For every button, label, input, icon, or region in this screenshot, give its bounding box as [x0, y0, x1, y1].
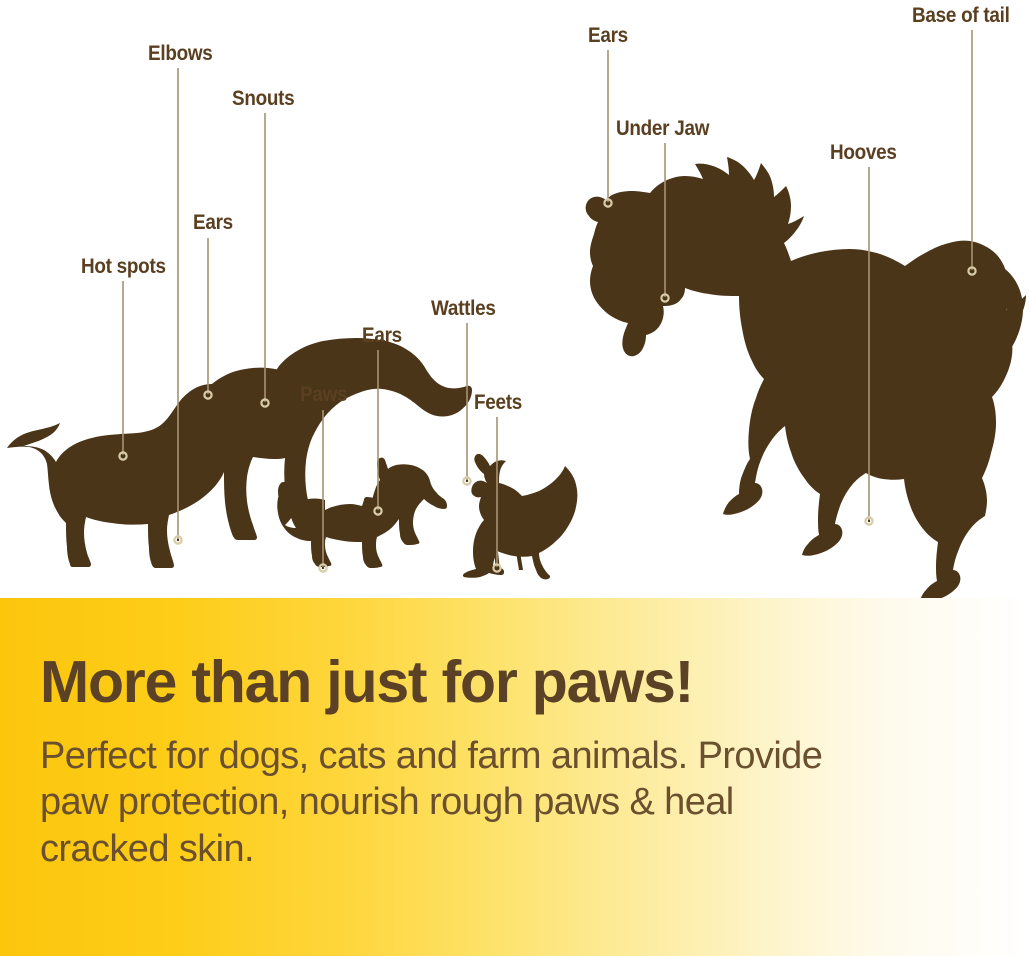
callout-label-hooves: Hooves [830, 142, 897, 163]
horse-silhouette [586, 157, 1026, 598]
callout-label-dog-ears: Ears [193, 212, 233, 233]
banner-headline: More than just for paws! [40, 653, 693, 712]
promo-banner-inner: More than just for paws! Perfect for dog… [40, 598, 1029, 956]
leader-marker-core-dog-ears [207, 394, 209, 396]
leader-marker-core-paws [322, 567, 324, 569]
leader-marker-core-feets [496, 567, 498, 569]
callout-label-base-of-tail: Base of tail [912, 5, 1010, 26]
banner-description-line: cracked skin. [40, 826, 980, 872]
leader-marker-core-cat-ears [377, 510, 379, 512]
callout-label-horse-ears: Ears [588, 25, 628, 46]
banner-description-line: Perfect for dogs, cats and farm animals.… [40, 733, 980, 779]
callout-label-snouts: Snouts [232, 88, 294, 109]
callout-label-feets: Feets [474, 392, 522, 413]
leader-marker-core-horse-ears [607, 202, 609, 204]
leader-marker-core-wattles [466, 480, 468, 482]
promo-banner: More than just for paws! Perfect for dog… [0, 598, 1029, 956]
animal-silhouettes-svg [0, 0, 1029, 598]
leader-marker-core-base-of-tail [971, 270, 973, 272]
callout-label-cat-ears: Ears [362, 325, 402, 346]
banner-description: Perfect for dogs, cats and farm animals.… [40, 733, 980, 872]
banner-description-line: paw protection, nourish rough paws & hea… [40, 779, 980, 825]
callout-label-under-jaw: Under Jaw [616, 118, 709, 139]
leader-marker-core-hot-spots [122, 455, 124, 457]
infographic-page: Hot spotsElbowsEarsSnoutsPawsEarsWattles… [0, 0, 1029, 956]
callout-label-hot-spots: Hot spots [81, 256, 166, 277]
animal-illustration-panel: Hot spotsElbowsEarsSnoutsPawsEarsWattles… [0, 0, 1029, 598]
callout-label-elbows: Elbows [148, 43, 213, 64]
leader-marker-core-elbows [177, 539, 179, 541]
leader-marker-core-snouts [264, 402, 266, 404]
callout-label-wattles: Wattles [431, 298, 496, 319]
leader-marker-core-hooves [868, 520, 870, 522]
leader-marker-core-under-jaw [664, 297, 666, 299]
callout-label-paws: Paws [300, 384, 347, 405]
